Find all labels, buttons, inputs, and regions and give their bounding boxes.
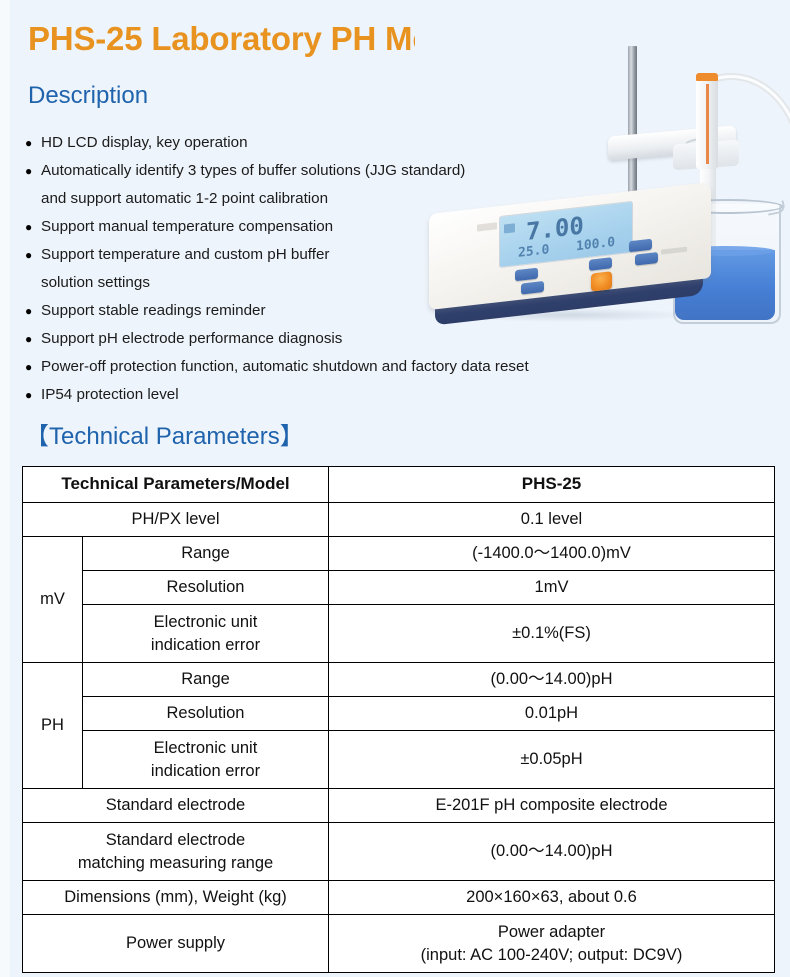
cell-mv-resolution-value: 1mV [329,571,775,605]
list-item: ● IP54 protection level [25,382,625,409]
electrode-cap [696,73,718,81]
cell-ph-resolution-value: 0.01pH [329,697,775,731]
bullet-dot-icon: ● [25,354,41,381]
list-item: ● Support stable readings reminder [25,298,625,325]
cell-ph-group-label: PH [23,663,83,789]
feature-list: ● HD LCD display, key operation ● Automa… [25,130,625,410]
bullet-dot-icon: ● [25,326,41,353]
cell-power-value-line1: Power adapter [498,923,605,941]
cell-ph-error-label-line1: Electronic unit [154,739,258,757]
table-header-model: PHS-25 [329,467,775,503]
cell-std-match-line2: matching measuring range [78,854,273,872]
bullet-dot-icon: ● [25,158,41,185]
table-row: Standard electrode E-201F pH composite e… [23,789,775,823]
table-row: Standard electrode matching measuring ra… [23,823,775,881]
meter-button-set[interactable] [635,252,658,266]
cell-dimensions-value: 200×160×63, about 0.6 [329,881,775,915]
list-item: ● HD LCD display, key operation [25,130,625,157]
cell-dimensions-label: Dimensions (mm), Weight (kg) [23,881,329,915]
table-row: Electronic unit indication error ±0.05pH [23,731,775,789]
list-item: ● Automatically identify 3 types of buff… [25,158,625,185]
bullet-dot-icon: ● [25,298,41,325]
table-row: PH Range (0.00～14.00)pH [23,663,775,697]
specifications-table: Technical Parameters/Model PHS-25 PH/PX … [22,466,775,973]
meter-model-label [661,247,687,255]
cell-mv-error-value: ±0.1%(FS) [329,605,775,663]
cell-mv-error-label-line2: indication error [151,636,260,654]
cell-mv-resolution-label: Resolution [83,571,329,605]
cell-ph-resolution-label: Resolution [83,697,329,731]
table-row: Power supply Power adapter (input: AC 10… [23,915,775,973]
bullet-dot-icon: ● [25,242,41,269]
cell-std-match-line1: Standard electrode [106,831,245,849]
table-row: mV Range (-1400.0～1400.0)mV [23,537,775,571]
meter-button-cal[interactable] [629,239,652,253]
cell-mv-range-label: Range [83,537,329,571]
bullet-dot-icon: ● [25,382,41,409]
bullet-dot-icon: ● [25,214,41,241]
table-row: Resolution 1mV [23,571,775,605]
list-item: ● Support manual temperature compensatio… [25,214,625,241]
description-heading: Description [28,82,148,110]
table-row: Resolution 0.01pH [23,697,775,731]
list-item: ● Power-off protection function, automat… [25,354,625,381]
bullet-dot-icon: ● [25,130,41,157]
table-row: Electronic unit indication error ±0.1%(F… [23,605,775,663]
cell-standard-electrode-label: Standard electrode [23,789,329,823]
list-item-text: Automatically identify 3 types of buffer… [41,158,625,185]
table-row: PH/PX level 0.1 level [23,503,775,537]
cell-ph-range-label: Range [83,663,329,697]
cell-ph-error-value: ±0.05pH [329,731,775,789]
cell-power-supply-value: Power adapter (input: AC 100-240V; outpu… [329,915,775,973]
cell-power-value-line2: (input: AC 100-240V; output: DC9V) [421,946,683,964]
cell-ph-error-label: Electronic unit indication error [83,731,329,789]
table-header-row: Technical Parameters/Model PHS-25 [23,467,775,503]
page-left-edge [0,0,10,977]
list-item: ● Support pH electrode performance diagn… [25,326,625,353]
list-item-text: Power-off protection function, automatic… [41,354,625,381]
page-title: PHS-25 Laboratory PH Meter [28,20,472,58]
table-row: Dimensions (mm), Weight (kg) 200×160×63,… [23,881,775,915]
list-item-text: HD LCD display, key operation [41,130,625,157]
cell-mv-error-label: Electronic unit indication error [83,605,329,663]
list-item: ● Support temperature and custom pH buff… [25,242,625,269]
cell-mv-range-value: (-1400.0～1400.0)mV [329,537,775,571]
list-item-text: Support pH electrode performance diagnos… [41,326,625,353]
cell-standard-electrode-range-value: (0.00～14.00)pH [329,823,775,881]
cell-mv-error-label-line1: Electronic unit [154,613,258,631]
cell-ph-range-value: (0.00～14.00)pH [329,663,775,697]
technical-parameters-heading: 【Technical Parameters】 [25,416,304,451]
cell-ph-px-level-label: PH/PX level [23,503,329,537]
cell-mv-group-label: mV [23,537,83,663]
list-item-text: Support manual temperature compensation [41,214,625,241]
table-header-parameter: Technical Parameters/Model [23,467,329,503]
list-item-text: Support temperature and custom pH buffer [41,242,625,269]
list-item-text: Support stable readings reminder [41,298,625,325]
cell-power-supply-label: Power supply [23,915,329,973]
list-item-text: IP54 protection level [41,382,625,409]
electrode-stripe [706,84,709,164]
cell-ph-px-level-value: 0.1 level [329,503,775,537]
cell-ph-error-label-line2: indication error [151,762,260,780]
list-item-continuation: and support automatic 1-2 point calibrat… [25,186,625,213]
cell-standard-electrode-value: E-201F pH composite electrode [329,789,775,823]
list-item-continuation: solution settings [25,270,625,297]
cell-standard-electrode-range-label: Standard electrode matching measuring ra… [23,823,329,881]
product-spec-page: PHS-25 Laboratory PH Meter Description [0,0,790,977]
